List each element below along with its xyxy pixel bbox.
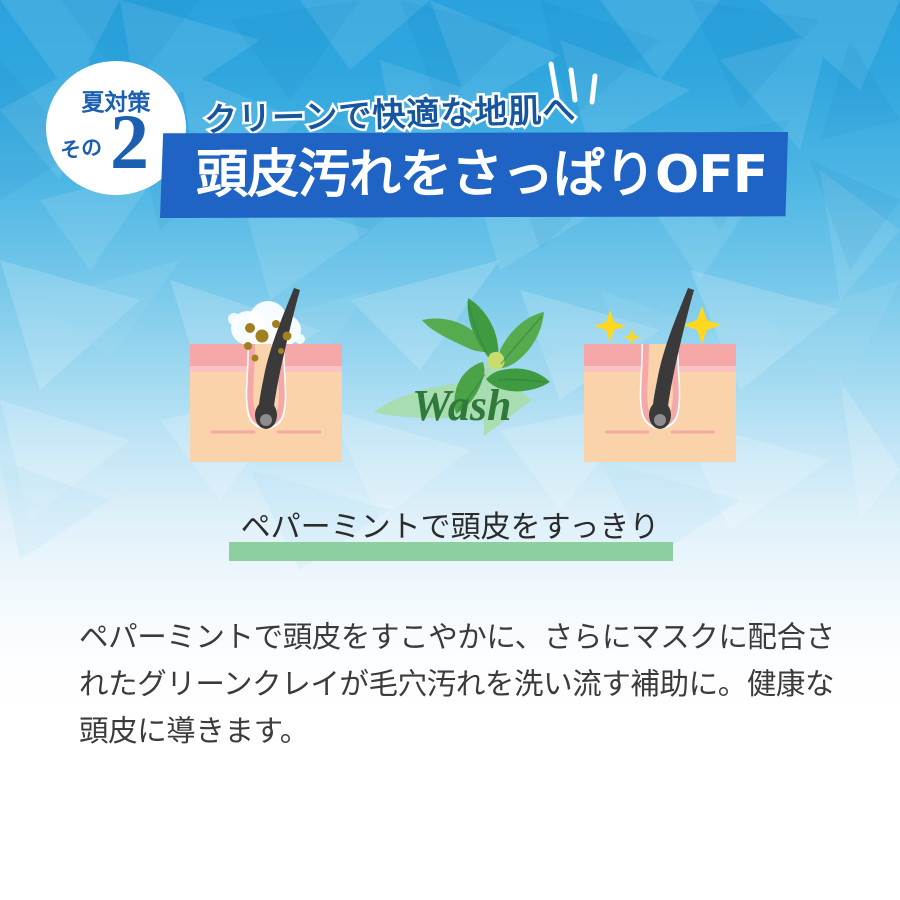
clean-follicle-diagram xyxy=(580,284,740,474)
badge-sub-label: その xyxy=(59,131,104,165)
promo-banner: 夏対策 その 2 クリーンで快適な地肌へ 頭皮汚れをさっぱりOFF xyxy=(0,0,900,900)
badge-number: 2 xyxy=(110,103,149,181)
dirty-follicle-diagram xyxy=(186,284,346,474)
papilla xyxy=(654,414,666,426)
papilla xyxy=(260,414,272,426)
body-paragraph: ペパーミントで頭皮をすこやかに、さらにマスクに配合されたグリーンクレイが毛穴汚れ… xyxy=(79,614,839,755)
sparkle-icons xyxy=(594,306,721,346)
page-title: 頭皮汚れをさっぱりOFF xyxy=(196,142,796,208)
shine-marks-icon xyxy=(545,58,615,110)
wash-arrow-with-mint: Wash xyxy=(368,294,568,464)
wash-label: Wash xyxy=(412,381,511,430)
caption-text: ペパーミントで頭皮をすっきり xyxy=(0,508,900,548)
